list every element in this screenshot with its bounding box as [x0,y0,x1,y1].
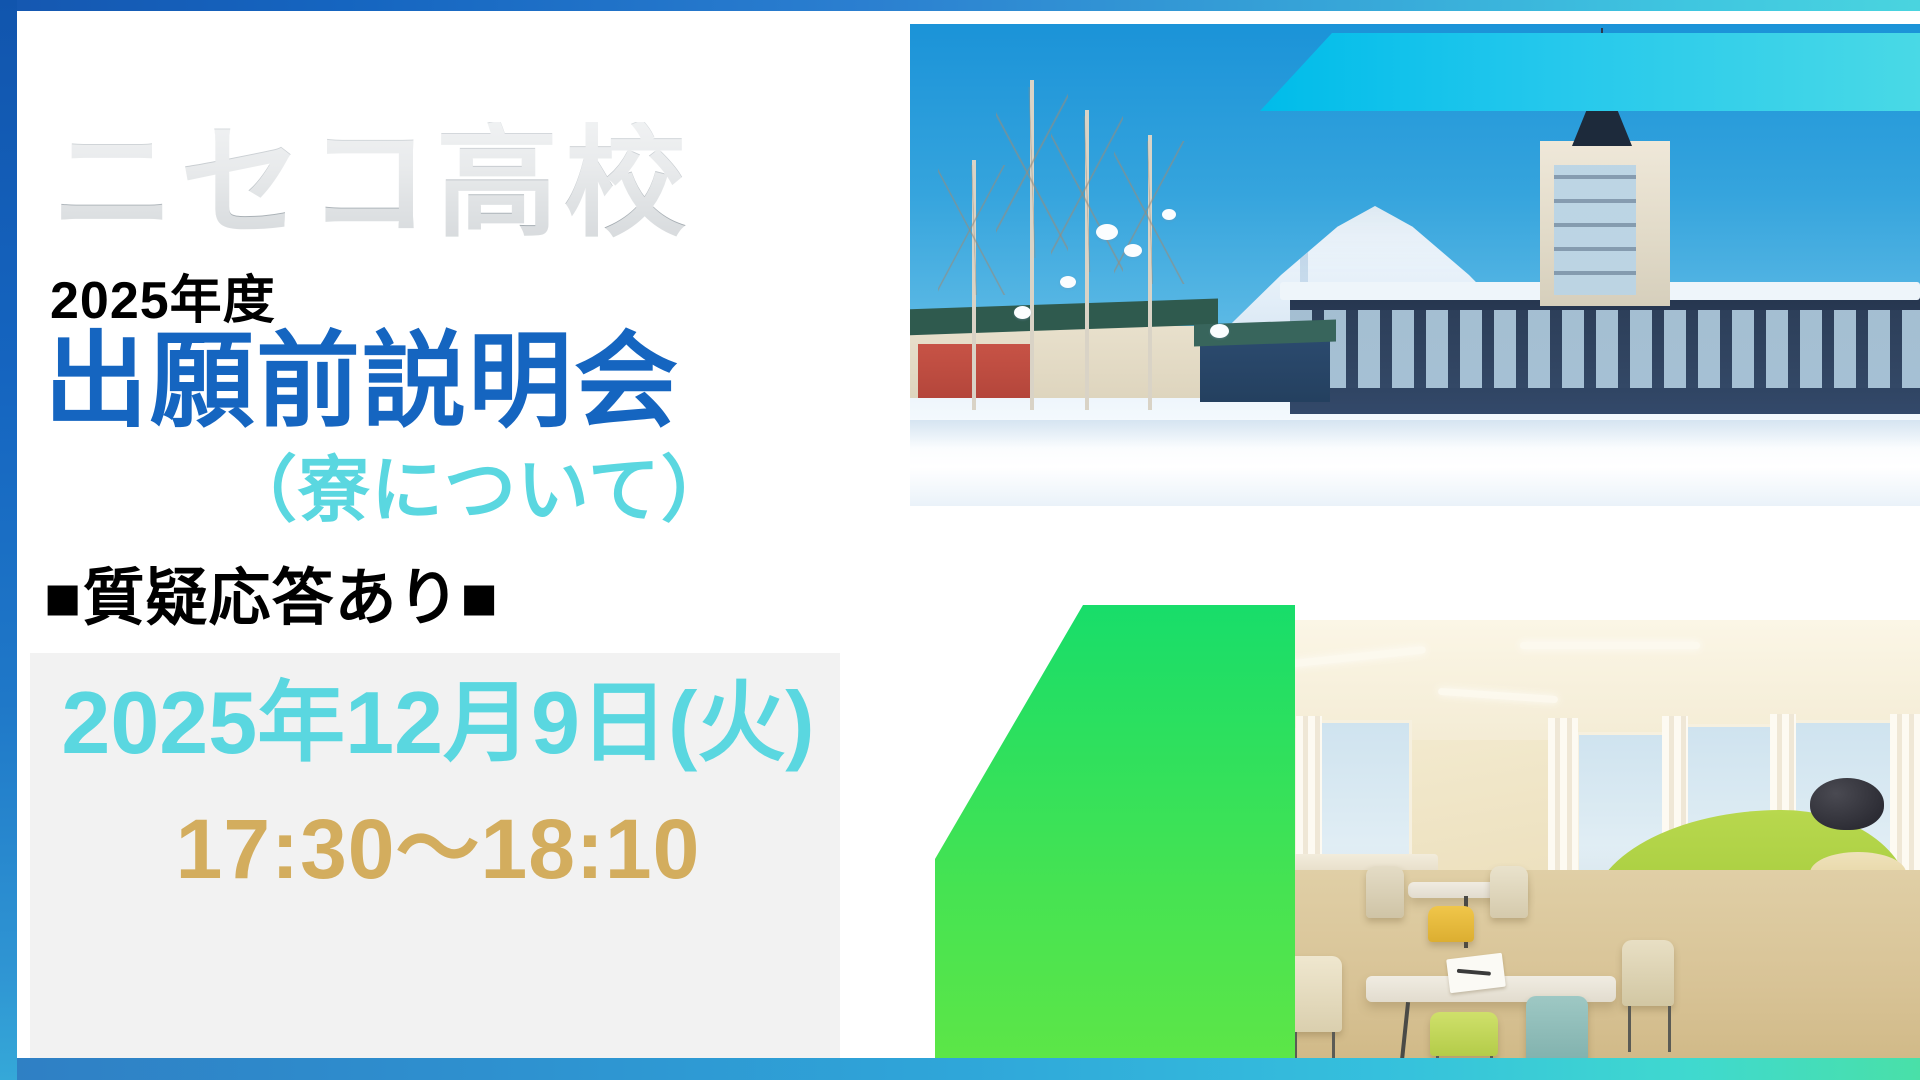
chair [1428,906,1474,942]
schedule-panel: 2025年12月9日(火) 17:30〜18:10 [30,653,840,1058]
chair-leg [1628,1006,1631,1052]
snow-clump [1162,209,1176,220]
snow-clump [1096,224,1118,240]
beanbag-chair [1810,778,1884,830]
birch-tree [1030,80,1034,410]
snow-clump [1060,276,1076,288]
qa-note: ■質疑応答あり■ [44,568,499,630]
event-time: 17:30〜18:10 [58,803,818,895]
event-date: 2025年12月9日(火) [58,675,818,772]
birch-tree [1085,110,1089,410]
snow-clump [1124,244,1142,257]
ceiling-light [1520,642,1700,649]
page-subtitle: （寮について） [225,455,734,527]
page-title: 出願前説明会 [44,330,680,434]
top-gradient-bar [0,0,1920,11]
school-tower [1540,141,1670,306]
left-gradient-bar [0,0,17,1080]
green-angled-band [935,605,1295,1080]
academic-year: 2025年度 [50,258,276,333]
chair [1622,940,1674,1006]
bottom-gradient-bar [0,1058,1920,1080]
red-brick-building [918,344,1034,398]
snow-clump [1210,324,1229,338]
notebook-on-table [1446,953,1506,994]
school-building [1290,296,1920,414]
snow-clump [1014,306,1031,319]
birch-tree [972,160,976,410]
chair [1490,866,1528,918]
birch-tree [1148,135,1152,410]
chair [1526,996,1588,1066]
chair [1366,866,1404,918]
cyan-diagonal-accent [1200,11,1920,111]
chair-leg [1668,1006,1671,1052]
dormitory-lounge-photo [1190,620,1920,1080]
chair [1430,1012,1498,1056]
blue-shed [1200,340,1330,402]
school-name: ニセコ高校 [52,122,842,244]
poster-canvas: ニセコ高校 2025年度 出願前説明会 （寮について） ■質疑応答あり■ 202… [0,0,1920,1080]
